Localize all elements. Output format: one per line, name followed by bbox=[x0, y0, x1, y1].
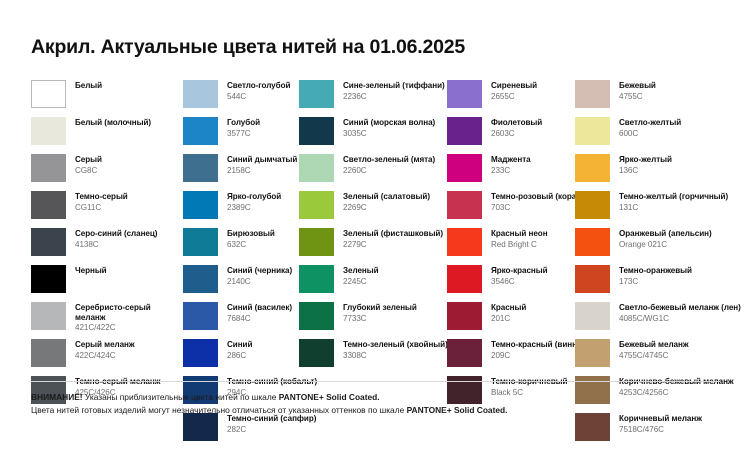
swatch-name: Красный неон bbox=[491, 229, 548, 239]
swatch-name: Темно-оранжевый bbox=[619, 266, 692, 276]
swatch-name: Светло-голубой bbox=[227, 81, 290, 91]
swatch-row[interactable]: Синий дымчатый2158C bbox=[183, 154, 299, 191]
swatch-text: Темно-зеленый (хвойный)3308C bbox=[334, 339, 448, 360]
color-swatch[interactable] bbox=[447, 265, 482, 293]
color-swatch[interactable] bbox=[575, 80, 610, 108]
swatch-text: Зеленый (фисташковый)2279C bbox=[334, 228, 443, 249]
color-swatch[interactable] bbox=[447, 191, 482, 219]
swatch-row[interactable]: Светло-голубой544C bbox=[183, 80, 299, 117]
swatch-row[interactable]: Глубокий зеленый7733C bbox=[299, 302, 447, 339]
swatch-text: Оранжевый (апельсин)Orange 021C bbox=[610, 228, 712, 249]
swatch-name: Ярко-красный bbox=[491, 266, 548, 276]
swatch-row[interactable]: Серебристо-серый меланж421C/422C bbox=[31, 302, 183, 339]
swatch-row[interactable]: Оранжевый (апельсин)Orange 021C bbox=[575, 228, 745, 265]
swatch-text: Серо-синий (сланец)4138C bbox=[66, 228, 157, 249]
swatch-pantone-code: CG8C bbox=[75, 166, 102, 176]
swatch-text: Синий286C bbox=[218, 339, 252, 360]
swatch-name: Серо-синий (сланец) bbox=[75, 229, 157, 239]
color-swatch[interactable] bbox=[575, 302, 610, 330]
color-swatch[interactable] bbox=[31, 80, 66, 108]
swatch-pantone-code: 3577C bbox=[227, 129, 260, 139]
swatch-name: Маджента bbox=[491, 155, 531, 165]
swatch-name: Светло-желтый bbox=[619, 118, 681, 128]
swatch-row[interactable]: Черный bbox=[31, 265, 183, 302]
swatch-name: Сиреневый bbox=[491, 81, 537, 91]
swatch-text: Серебристо-серый меланж421C/422C bbox=[66, 302, 183, 333]
swatch-name: Синий (морская волна) bbox=[343, 118, 435, 128]
color-swatch[interactable] bbox=[299, 154, 334, 182]
swatch-text: Светло-зеленый (мята)2260C bbox=[334, 154, 435, 175]
swatch-pantone-code: 632C bbox=[227, 240, 275, 250]
color-swatch[interactable] bbox=[447, 80, 482, 108]
color-swatch[interactable] bbox=[575, 191, 610, 219]
swatch-name: Синий (василек) bbox=[227, 303, 292, 313]
swatch-text: Зеленый2245C bbox=[334, 265, 379, 286]
page-title: Акрил. Актуальные цвета нитей на 01.06.2… bbox=[31, 36, 465, 59]
swatch-name: Зеленый bbox=[343, 266, 379, 276]
swatch-pantone-code: 2245C bbox=[343, 277, 379, 287]
swatch-pantone-code: 2260C bbox=[343, 166, 435, 176]
swatch-pantone-code: 4755C bbox=[619, 92, 656, 102]
swatch-text: Белый (молочный) bbox=[66, 117, 151, 128]
swatch-row[interactable]: Темно-оранжевый173C bbox=[575, 265, 745, 302]
swatch-row[interactable]: Ярко-желтый136C bbox=[575, 154, 745, 191]
swatch-pantone-code: 7518C/476C bbox=[619, 425, 702, 435]
swatch-pantone-code: 3035C bbox=[343, 129, 435, 139]
swatch-pantone-code: 422C/424C bbox=[75, 351, 135, 361]
swatch-row[interactable]: Светло-зеленый (мята)2260C bbox=[299, 154, 447, 191]
swatch-text: Красный неонRed Bright C bbox=[482, 228, 548, 249]
color-swatch[interactable] bbox=[183, 191, 218, 219]
color-swatch[interactable] bbox=[183, 265, 218, 293]
swatch-pantone-code: 282C bbox=[227, 425, 316, 435]
swatch-name: Зеленый (салатовый) bbox=[343, 192, 430, 202]
swatch-pantone-code: 173C bbox=[619, 277, 692, 287]
swatch-text: Белый bbox=[66, 80, 102, 91]
swatch-name: Синий bbox=[227, 340, 252, 350]
color-swatch[interactable] bbox=[299, 191, 334, 219]
swatch-name: Зеленый (фисташковый) bbox=[343, 229, 443, 239]
color-swatch[interactable] bbox=[299, 302, 334, 330]
color-swatch[interactable] bbox=[447, 302, 482, 330]
swatch-row[interactable]: Зеленый2245C bbox=[299, 265, 447, 302]
color-swatch[interactable] bbox=[183, 339, 218, 367]
footer-note: ВНИМАНИЕ! Указаны приблизительные цвета … bbox=[31, 391, 731, 417]
swatch-pantone-code: 2236C bbox=[343, 92, 445, 102]
swatch-text: Синий (морская волна)3035C bbox=[334, 117, 435, 138]
color-swatch[interactable] bbox=[31, 265, 66, 293]
swatch-text: Голубой3577C bbox=[218, 117, 260, 138]
swatch-pantone-code: 3546C bbox=[491, 277, 548, 287]
swatch-name: Темно-желтый (горчичный) bbox=[619, 192, 728, 202]
color-swatch[interactable] bbox=[183, 302, 218, 330]
swatch-row[interactable]: Белый bbox=[31, 80, 183, 117]
swatch-pantone-code: 3308C bbox=[343, 351, 448, 361]
swatch-pantone-code: 421C/422C bbox=[75, 323, 183, 333]
swatch-text: Светло-голубой544C bbox=[218, 80, 290, 101]
footer-line-2: Цвета нитей готовых изделий могут незнач… bbox=[31, 404, 731, 417]
swatch-pantone-code: 286C bbox=[227, 351, 252, 361]
color-swatch[interactable] bbox=[299, 339, 334, 367]
swatch-name: Белый (молочный) bbox=[75, 118, 151, 128]
swatch-row[interactable]: СерыйCG8C bbox=[31, 154, 183, 191]
color-swatch[interactable] bbox=[183, 154, 218, 182]
swatch-name: Бирюзовый bbox=[227, 229, 275, 239]
color-swatch[interactable] bbox=[447, 117, 482, 145]
swatch-row[interactable]: Красный неонRed Bright C bbox=[447, 228, 575, 265]
color-swatch[interactable] bbox=[575, 117, 610, 145]
swatch-row[interactable]: Маджента233C bbox=[447, 154, 575, 191]
swatch-text: Фиолетовый2603C bbox=[482, 117, 542, 138]
swatch-pantone-code: 2655C bbox=[491, 92, 537, 102]
color-swatch[interactable] bbox=[31, 339, 66, 367]
color-swatch[interactable] bbox=[447, 339, 482, 367]
swatch-name: Серый bbox=[75, 155, 102, 165]
swatch-name: Ярко-желтый bbox=[619, 155, 672, 165]
swatch-row[interactable]: Бежевый4755C bbox=[575, 80, 745, 117]
swatch-row[interactable]: Фиолетовый2603C bbox=[447, 117, 575, 154]
swatch-pantone-code: 544C bbox=[227, 92, 290, 102]
swatch-row[interactable]: Темно-розовый (коралл)703C bbox=[447, 191, 575, 228]
swatch-name: Синий дымчатый bbox=[227, 155, 297, 165]
swatch-name: Голубой bbox=[227, 118, 260, 128]
swatch-pantone-code: 201C bbox=[491, 314, 526, 324]
swatch-row[interactable]: Серый меланж422C/424C bbox=[31, 339, 183, 376]
footer-line-1-text: Указаны приблизительные цвета нитей по ш… bbox=[83, 392, 279, 402]
swatch-text: Ярко-красный3546C bbox=[482, 265, 548, 286]
swatch-text: СерыйCG8C bbox=[66, 154, 102, 175]
swatch-row[interactable]: Серо-синий (сланец)4138C bbox=[31, 228, 183, 265]
color-swatch[interactable] bbox=[31, 117, 66, 145]
color-swatch[interactable] bbox=[299, 228, 334, 256]
swatch-row[interactable]: Светло-желтый600C bbox=[575, 117, 745, 154]
swatch-row[interactable]: Коричневый меланж7518C/476C bbox=[575, 413, 745, 450]
color-swatch[interactable] bbox=[575, 413, 610, 441]
color-swatch[interactable] bbox=[31, 228, 66, 256]
swatch-text: Маджента233C bbox=[482, 154, 531, 175]
swatch-row[interactable]: Бежевый меланж4755C/4745C bbox=[575, 339, 745, 376]
swatch-text: Зеленый (салатовый)2269C bbox=[334, 191, 430, 212]
swatch-row[interactable]: Бирюзовый632C bbox=[183, 228, 299, 265]
swatch-text: Сиреневый2655C bbox=[482, 80, 537, 101]
swatch-text: Темно-серыйCG11C bbox=[66, 191, 128, 212]
column-neutrals: БелыйБелый (молочный)СерыйCG8CТемно-серы… bbox=[31, 80, 183, 413]
color-swatch[interactable] bbox=[31, 302, 66, 330]
swatch-row[interactable]: Ярко-голубой2389C bbox=[183, 191, 299, 228]
color-swatch[interactable] bbox=[447, 154, 482, 182]
swatch-row[interactable]: Светло-бежевый меланж (лен)4085C/WG1C bbox=[575, 302, 745, 339]
swatch-name: Сине-зеленый (тиффани) bbox=[343, 81, 445, 91]
swatch-row[interactable]: Белый (молочный) bbox=[31, 117, 183, 154]
swatch-pantone-code: CG11C bbox=[75, 203, 128, 213]
swatch-pantone-code: 7684C bbox=[227, 314, 292, 324]
color-swatch[interactable] bbox=[31, 191, 66, 219]
swatch-row[interactable]: Голубой3577C bbox=[183, 117, 299, 154]
footer-line-2-text: Цвета нитей готовых изделий могут незнач… bbox=[31, 405, 407, 415]
swatch-row[interactable]: Синий (черника)2140C bbox=[183, 265, 299, 302]
swatch-pantone-code: 2158C bbox=[227, 166, 297, 176]
swatch-row[interactable]: Темно-синий (сапфир)282C bbox=[183, 413, 299, 450]
color-swatch[interactable] bbox=[183, 117, 218, 145]
swatch-row[interactable]: Ярко-красный3546C bbox=[447, 265, 575, 302]
color-swatch[interactable] bbox=[183, 80, 218, 108]
swatch-text: Бежевый меланж4755C/4745C bbox=[610, 339, 689, 360]
swatch-text: Светло-бежевый меланж (лен)4085C/WG1C bbox=[610, 302, 741, 323]
swatch-name: Светло-зеленый (мята) bbox=[343, 155, 435, 165]
swatch-name: Оранжевый (апельсин) bbox=[619, 229, 712, 239]
color-swatch[interactable] bbox=[575, 154, 610, 182]
footer-line-2-brand: PANTONE+ Solid Coated. bbox=[407, 405, 508, 415]
swatch-row[interactable]: Сине-зеленый (тиффани)2236C bbox=[299, 80, 447, 117]
swatch-row[interactable]: Темно-желтый (горчичный)131C bbox=[575, 191, 745, 228]
swatch-pantone-code: Red Bright C bbox=[491, 240, 548, 250]
swatch-pantone-code: 4755C/4745C bbox=[619, 351, 689, 361]
swatch-pantone-code: 4138C bbox=[75, 240, 157, 250]
swatch-row[interactable]: Темно-зеленый (хвойный)3308C bbox=[299, 339, 447, 376]
swatch-text: Светло-желтый600C bbox=[610, 117, 681, 138]
color-swatch[interactable] bbox=[31, 154, 66, 182]
swatch-pantone-code: 7733C bbox=[343, 314, 417, 324]
swatch-text: Ярко-голубой2389C bbox=[218, 191, 281, 212]
swatch-row[interactable]: Синий286C bbox=[183, 339, 299, 376]
swatch-text: Глубокий зеленый7733C bbox=[334, 302, 417, 323]
swatch-pantone-code: 2269C bbox=[343, 203, 430, 213]
color-swatch[interactable] bbox=[183, 413, 218, 441]
swatch-text: Бежевый4755C bbox=[610, 80, 656, 101]
swatch-name: Серый меланж bbox=[75, 340, 135, 350]
swatch-name: Черный bbox=[75, 266, 107, 276]
color-chart-page: Акрил. Актуальные цвета нитей на 01.06.2… bbox=[0, 0, 750, 457]
footer-divider bbox=[31, 381, 720, 382]
swatch-row[interactable]: Красный201C bbox=[447, 302, 575, 339]
swatch-pantone-code: 136C bbox=[619, 166, 672, 176]
swatch-row[interactable]: Зеленый (салатовый)2269C bbox=[299, 191, 447, 228]
footer-warning-label: ВНИМАНИЕ! bbox=[31, 392, 83, 402]
column-purples-reds: Сиреневый2655CФиолетовый2603CМаджента233… bbox=[447, 80, 575, 413]
swatch-row[interactable]: Темно-красный (винный)209C bbox=[447, 339, 575, 376]
swatch-text: Синий (василек)7684C bbox=[218, 302, 292, 323]
swatch-name: Бежевый меланж bbox=[619, 340, 689, 350]
color-swatch[interactable] bbox=[575, 265, 610, 293]
color-swatch[interactable] bbox=[575, 228, 610, 256]
swatch-name: Светло-бежевый меланж (лен) bbox=[619, 303, 741, 313]
swatch-pantone-code: 233C bbox=[491, 166, 531, 176]
swatch-row[interactable]: Синий (морская волна)3035C bbox=[299, 117, 447, 154]
swatch-name: Красный bbox=[491, 303, 526, 313]
swatch-pantone-code: 2140C bbox=[227, 277, 292, 287]
swatch-row[interactable]: Зеленый (фисташковый)2279C bbox=[299, 228, 447, 265]
swatch-text: Бирюзовый632C bbox=[218, 228, 275, 249]
swatch-pantone-code: 4085C/WG1C bbox=[619, 314, 741, 324]
swatch-pantone-code: 2389C bbox=[227, 203, 281, 213]
swatch-name: Белый bbox=[75, 81, 102, 91]
swatch-text: Темно-оранжевый173C bbox=[610, 265, 692, 286]
swatch-name: Бежевый bbox=[619, 81, 656, 91]
column-greens: Сине-зеленый (тиффани)2236CСиний (морска… bbox=[299, 80, 447, 376]
swatch-text: Сине-зеленый (тиффани)2236C bbox=[334, 80, 445, 101]
footer-line-1: ВНИМАНИЕ! Указаны приблизительные цвета … bbox=[31, 391, 731, 404]
swatch-name: Темно-серый bbox=[75, 192, 128, 202]
swatch-name: Глубокий зеленый bbox=[343, 303, 417, 313]
swatch-name: Серебристо-серый меланж bbox=[75, 303, 183, 322]
swatch-pantone-code: 131C bbox=[619, 203, 728, 213]
swatch-row[interactable]: Темно-серыйCG11C bbox=[31, 191, 183, 228]
color-swatch[interactable] bbox=[183, 228, 218, 256]
swatch-text: Темно-желтый (горчичный)131C bbox=[610, 191, 728, 212]
swatch-text: Ярко-желтый136C bbox=[610, 154, 672, 175]
color-swatch[interactable] bbox=[575, 339, 610, 367]
swatch-text: Серый меланж422C/424C bbox=[66, 339, 135, 360]
swatch-pantone-code: 2603C bbox=[491, 129, 542, 139]
color-swatch[interactable] bbox=[447, 228, 482, 256]
color-swatch[interactable] bbox=[299, 265, 334, 293]
swatch-text: Красный201C bbox=[482, 302, 526, 323]
swatch-text: Синий дымчатый2158C bbox=[218, 154, 297, 175]
footer-line-1-brand: PANTONE+ Solid Coated. bbox=[279, 392, 380, 402]
swatch-row[interactable]: Синий (василек)7684C bbox=[183, 302, 299, 339]
color-swatch[interactable] bbox=[299, 80, 334, 108]
swatch-row[interactable]: Сиреневый2655C bbox=[447, 80, 575, 117]
swatch-name: Темно-зеленый (хвойный) bbox=[343, 340, 448, 350]
color-swatch[interactable] bbox=[299, 117, 334, 145]
swatch-pantone-code: Orange 021C bbox=[619, 240, 712, 250]
swatch-name: Синий (черника) bbox=[227, 266, 292, 276]
swatch-pantone-code: 2279C bbox=[343, 240, 443, 250]
swatch-name: Ярко-голубой bbox=[227, 192, 281, 202]
swatch-text: Синий (черника)2140C bbox=[218, 265, 292, 286]
swatch-text: Черный bbox=[66, 265, 107, 276]
swatch-text: Темно-розовый (коралл)703C bbox=[482, 191, 589, 212]
swatch-pantone-code: 600C bbox=[619, 129, 681, 139]
swatch-name: Фиолетовый bbox=[491, 118, 542, 128]
